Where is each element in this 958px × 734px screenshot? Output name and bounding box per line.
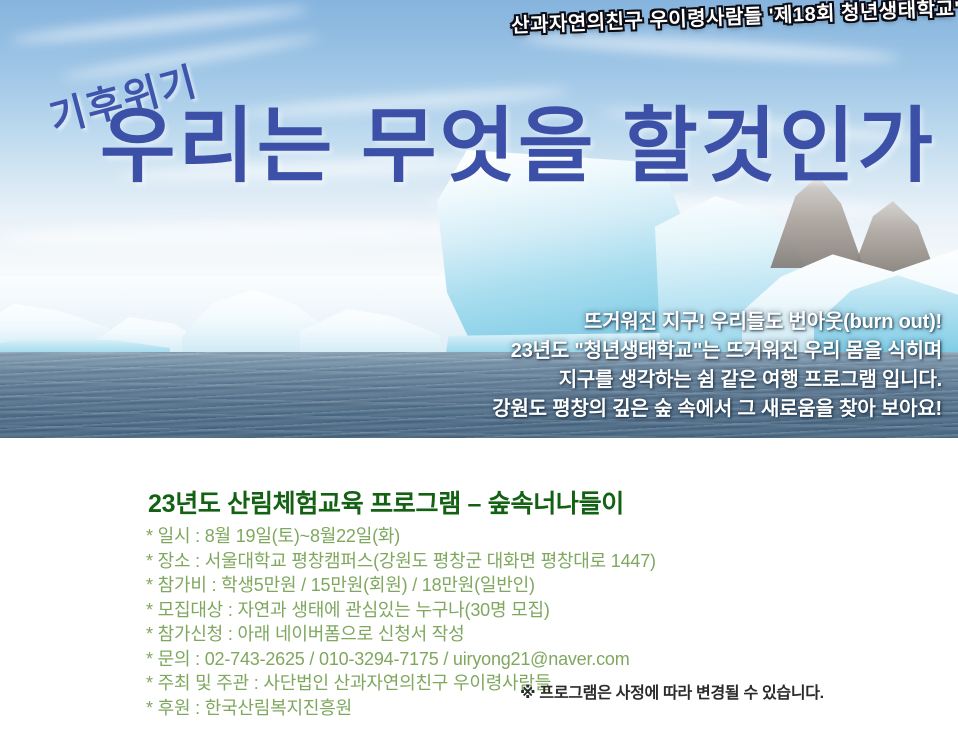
page-title: 우리는 무엇을 할것인가 <box>100 104 936 190</box>
detail-location: * 장소 : 서울대학교 평창캠퍼스(강원도 평창군 대화면 평창대로 1447… <box>146 549 656 574</box>
detail-fee: * 참가비 : 학생5만원 / 15만원(회원) / 18만원(일반인) <box>146 573 656 598</box>
program-info-panel: 23년도 산림체험교육 프로그램 – 숲속너나들이 * 일시 : 8월 19일(… <box>0 438 958 734</box>
detail-audience: * 모집대상 : 자연과 생태에 관심있는 누구나(30명 모집) <box>146 598 656 623</box>
detail-contact: * 문의 : 02-743-2625 / 010-3294-7175 / uir… <box>146 647 656 672</box>
program-title: 23년도 산림체험교육 프로그램 – 숲속너나들이 <box>148 484 624 520</box>
detail-application: * 참가신청 : 아래 네이버폼으로 신청서 작성 <box>146 622 656 647</box>
detail-date: * 일시 : 8월 19일(토)~8월22일(화) <box>146 524 656 549</box>
description-line: 뜨거워진 지구! 우리들도 번아웃(burn out)! <box>322 308 942 337</box>
program-change-note: ※ 프로그램은 사정에 따라 변경될 수 있습니다. <box>520 679 824 703</box>
description-block: 뜨거워진 지구! 우리들도 번아웃(burn out)! 23년도 "청년생태학… <box>322 308 942 424</box>
description-line: 지구를 생각하는 쉼 같은 여행 프로그램 입니다. <box>322 366 942 395</box>
hero-photo: 산과자연의친구 우이령사람들 '제18회 청년생태학교' 기후위기 우리는 무엇… <box>0 0 958 438</box>
description-line: 강원도 평창의 깊은 숲 속에서 그 새로움을 찾아 보아요! <box>322 395 942 424</box>
poster-root: 산과자연의친구 우이령사람들 '제18회 청년생태학교' 기후위기 우리는 무엇… <box>0 0 958 734</box>
description-line: 23년도 "청년생태학교"는 뜨거워진 우리 몸을 식히며 <box>322 337 942 366</box>
